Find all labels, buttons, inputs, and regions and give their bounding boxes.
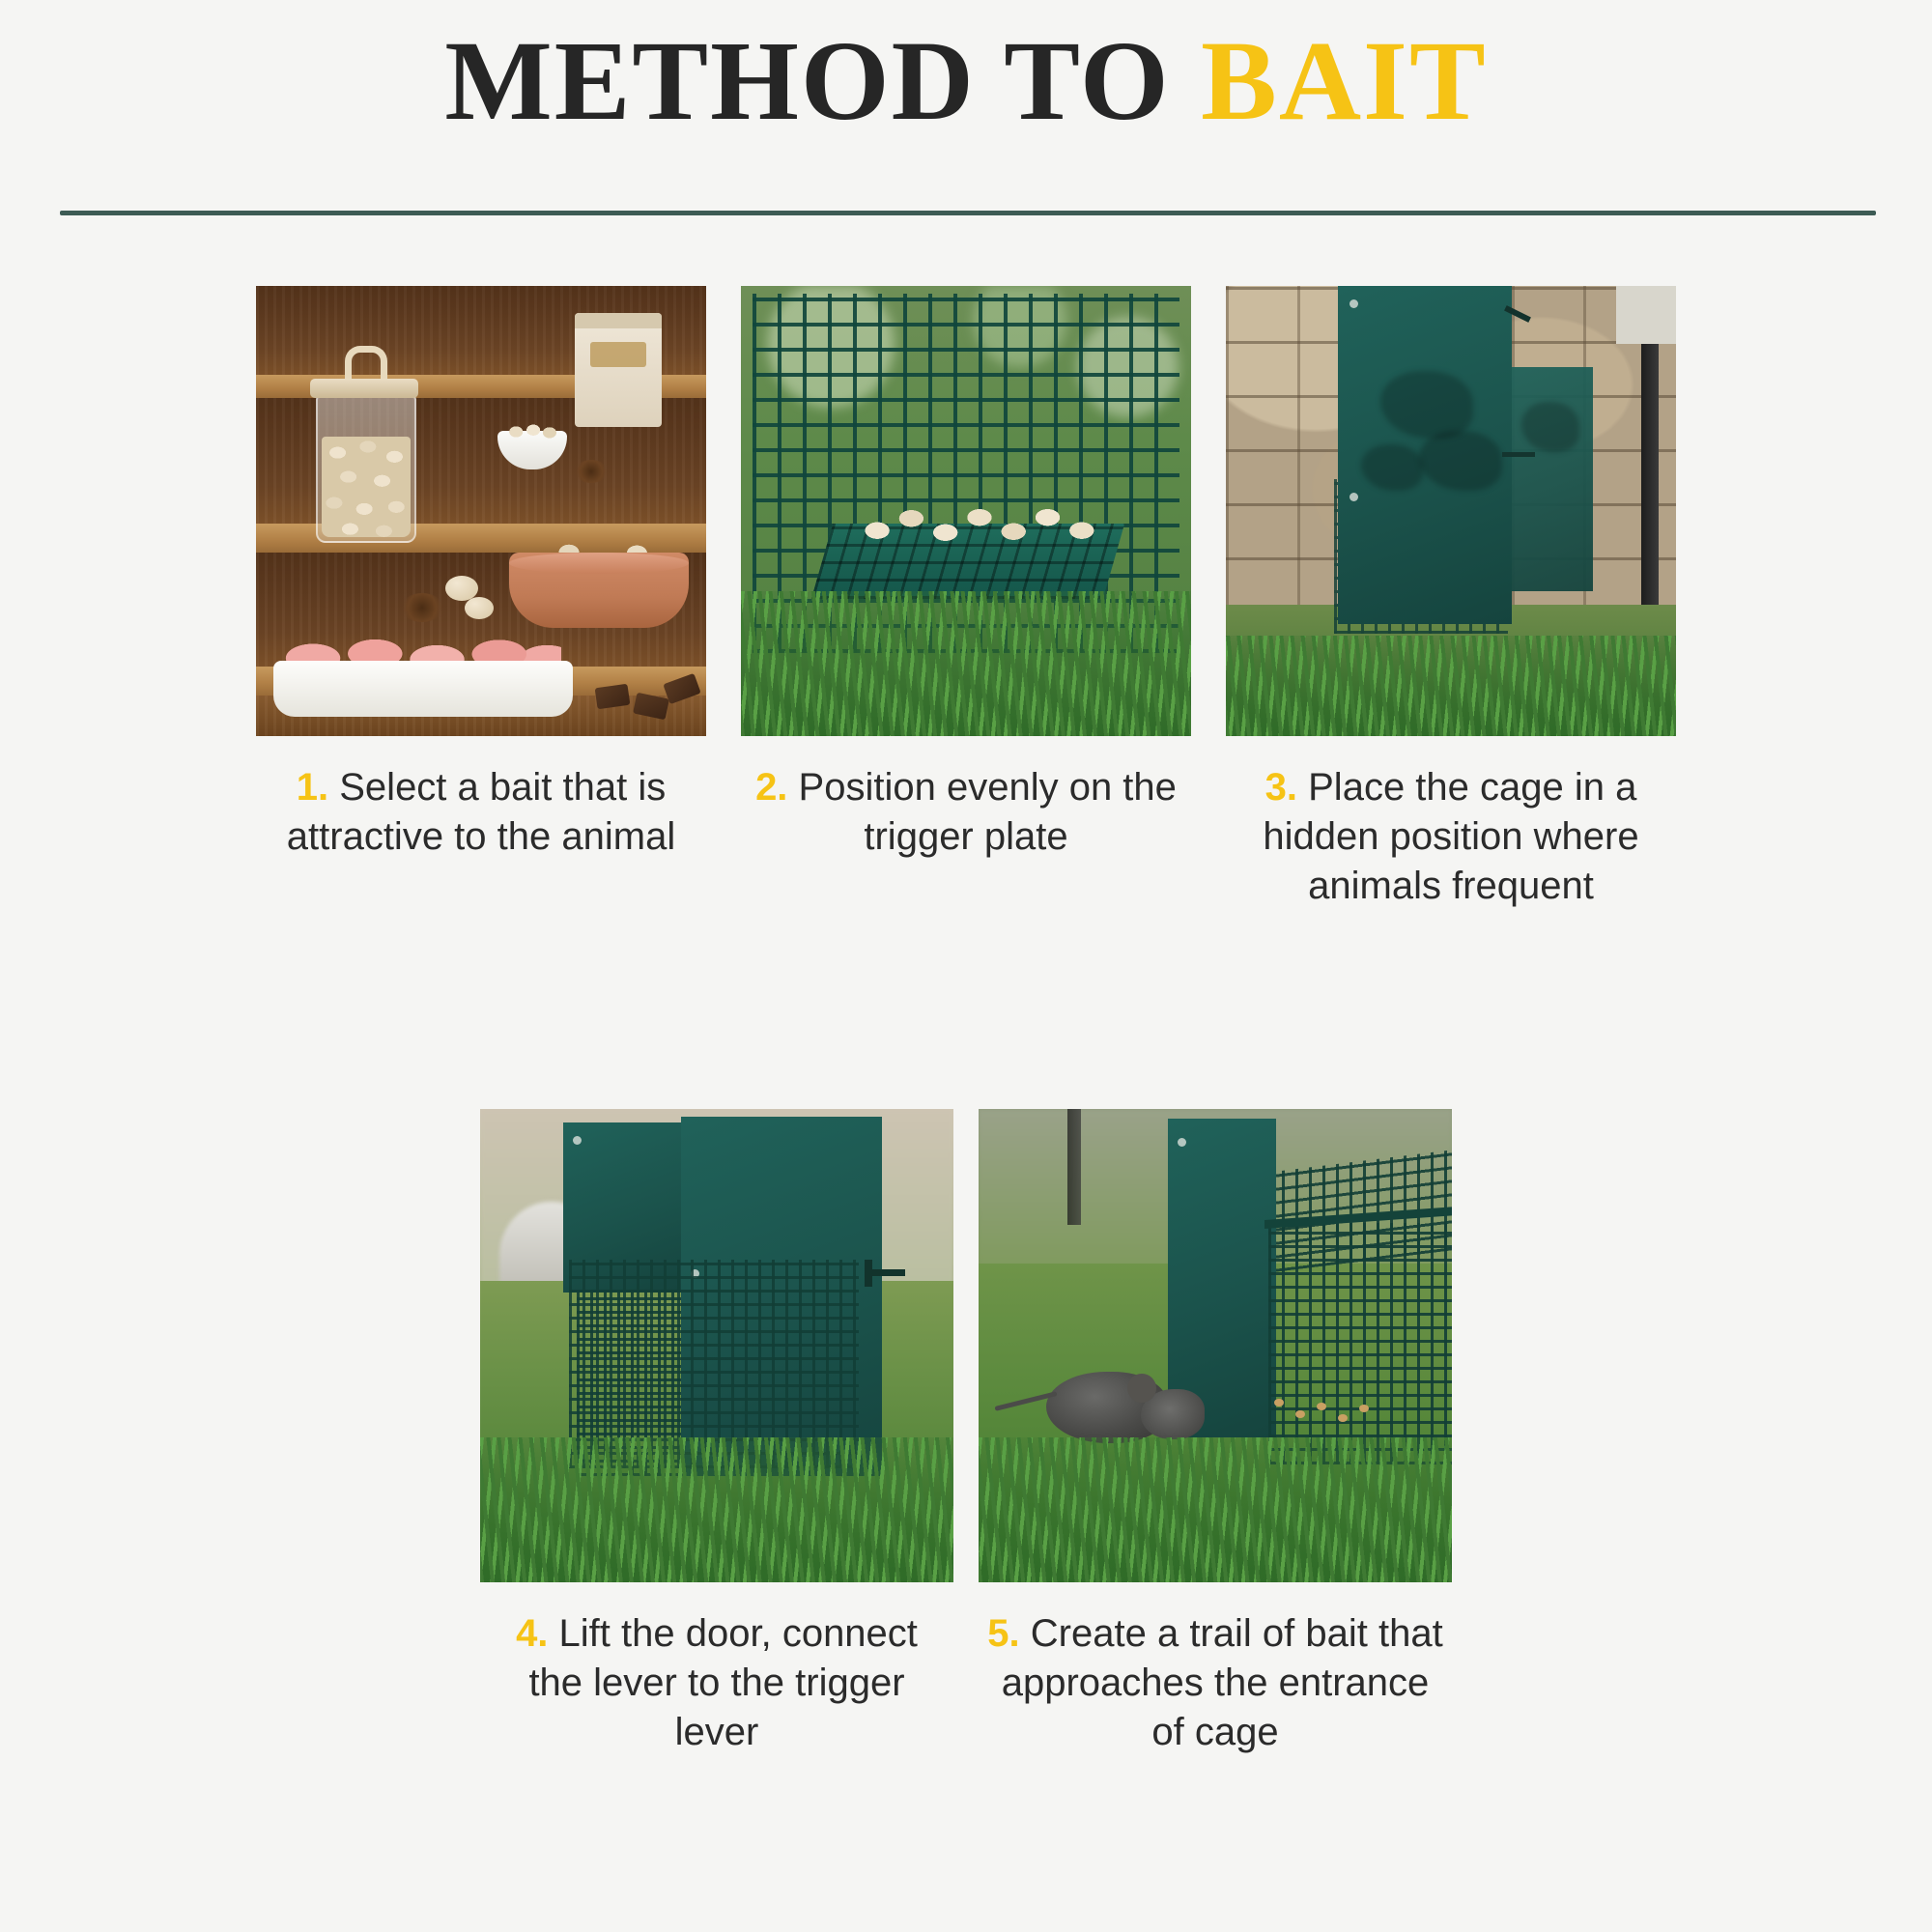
- step-text-3: Place the cage in a hidden position wher…: [1263, 766, 1638, 907]
- grass-foreground: [741, 591, 1191, 736]
- page-title-accent: BAIT: [1201, 17, 1488, 144]
- steps-row-bottom: 4. Lift the door, connect the lever to t…: [0, 1109, 1932, 1756]
- jar-lid: [310, 379, 418, 398]
- glass-jar: [316, 394, 416, 543]
- grass-foreground: [979, 1437, 1452, 1582]
- step-card-5: 5. Create a trail of bait that approache…: [979, 1109, 1452, 1756]
- step-caption-3: 3. Place the cage in a hidden position w…: [1226, 763, 1676, 910]
- terracotta-bowl: [509, 553, 689, 628]
- step-card-1: 1. Select a bait that is attractive to t…: [256, 286, 706, 910]
- chocolate-piece: [595, 684, 631, 710]
- cage-door-panel-rear: [1512, 367, 1593, 591]
- trigger-lever: [867, 1269, 905, 1276]
- title-divider: [60, 211, 1876, 215]
- step-caption-2: 2. Position evenly on the trigger plate: [741, 763, 1191, 862]
- step-number-2: 2.: [755, 766, 787, 809]
- page-title-main: METHOD TO: [444, 17, 1170, 144]
- background-object: [1616, 286, 1676, 344]
- step-image-4: [480, 1109, 953, 1582]
- bait-bag: [575, 313, 662, 427]
- step-image-5: [979, 1109, 1452, 1582]
- step-card-4: 4. Lift the door, connect the lever to t…: [480, 1109, 953, 1756]
- step-text-5: Create a trail of bait that approaches t…: [1002, 1612, 1443, 1753]
- bait-nuts-on-plate: [863, 500, 1106, 551]
- step-caption-4: 4. Lift the door, connect the lever to t…: [480, 1609, 953, 1756]
- step-number-4: 4.: [516, 1612, 548, 1655]
- step-text-1: Select a bait that is attractive to the …: [287, 766, 675, 858]
- trigger-lever: [1502, 452, 1535, 457]
- step-number-1: 1.: [297, 766, 328, 809]
- grass-foreground: [480, 1437, 953, 1582]
- step-card-3: 3. Place the cage in a hidden position w…: [1226, 286, 1676, 910]
- loose-nut: [465, 597, 494, 619]
- lever-hook: [865, 1260, 872, 1287]
- steps-row-top: 1. Select a bait that is attractive to t…: [0, 286, 1932, 910]
- cage-body-mesh: [1268, 1223, 1452, 1464]
- step-text-2: Position evenly on the trigger plate: [799, 766, 1177, 858]
- step-number-3: 3.: [1265, 766, 1297, 809]
- page-title: METHOD TO BAIT: [0, 21, 1932, 141]
- step-caption-1: 1. Select a bait that is attractive to t…: [256, 763, 706, 862]
- step-text-4: Lift the door, connect the lever to the …: [528, 1612, 917, 1753]
- step-caption-5: 5. Create a trail of bait that approache…: [979, 1609, 1452, 1756]
- step-image-3: [1226, 286, 1676, 736]
- white-tray: [273, 661, 573, 717]
- rat-ear: [1127, 1374, 1156, 1403]
- grass-foreground: [1226, 636, 1676, 736]
- background-post: [1067, 1109, 1081, 1225]
- step-number-5: 5.: [987, 1612, 1019, 1655]
- step-card-2: 2. Position evenly on the trigger plate: [741, 286, 1191, 910]
- step-image-2: [741, 286, 1191, 736]
- infographic-page: METHOD TO BAIT: [0, 0, 1932, 1932]
- step-image-1: [256, 286, 706, 736]
